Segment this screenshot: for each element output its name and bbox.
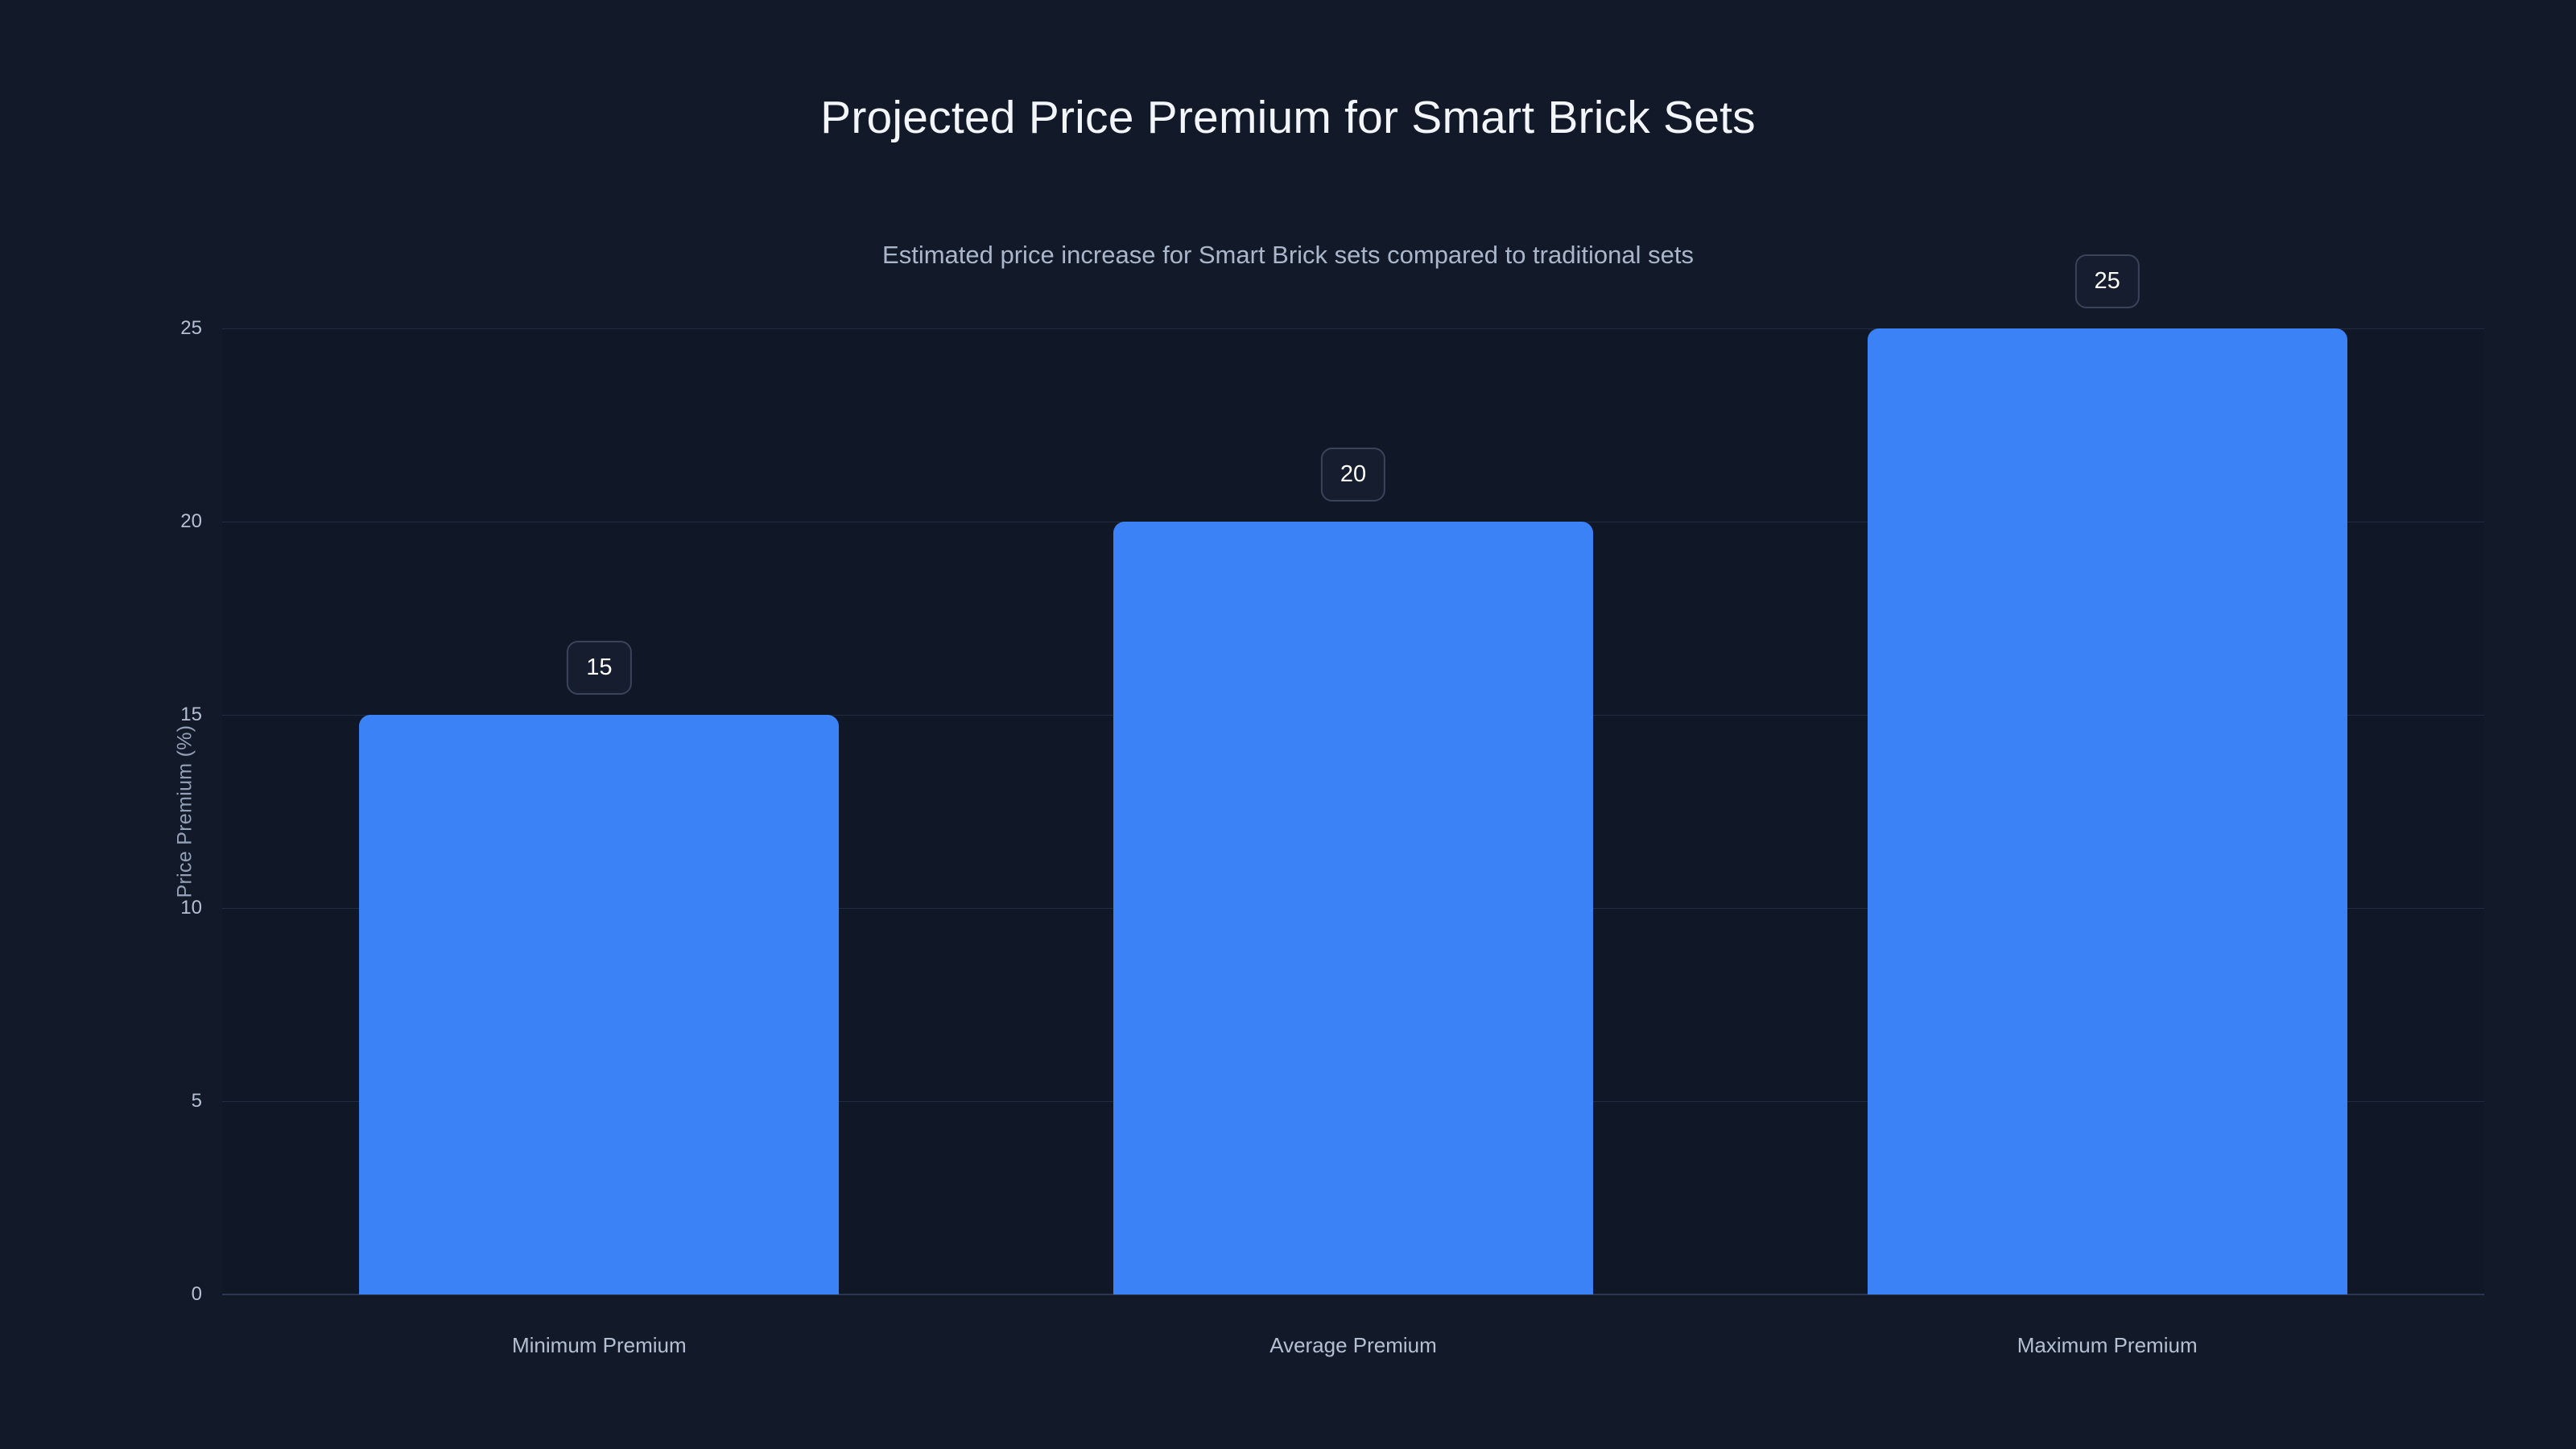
y-axis-tick-label: 25	[17, 319, 202, 338]
bar-value-badge: 20	[1321, 448, 1385, 502]
y-axis-tick-label: 20	[17, 512, 202, 531]
x-axis-category-label: Maximum Premium	[2017, 1335, 2198, 1356]
bar[interactable]	[359, 715, 839, 1294]
y-axis-tick-label: 10	[17, 898, 202, 918]
bar[interactable]	[1113, 522, 1593, 1294]
y-axis-tick-label: 15	[17, 705, 202, 724]
bar-value-badge: 15	[567, 641, 631, 695]
x-axis-category-label: Average Premium	[1269, 1335, 1437, 1356]
bar-value-badge: 25	[2075, 254, 2140, 308]
y-axis-tick-label: 0	[17, 1285, 202, 1304]
y-axis-tick-label: 5	[17, 1092, 202, 1111]
y-axis-title: Price Premium (%)	[174, 725, 197, 898]
bar-chart: Projected Price Premium for Smart Brick …	[0, 0, 2576, 1449]
chart-title: Projected Price Premium for Smart Brick …	[0, 93, 2576, 143]
chart-subtitle: Estimated price increase for Smart Brick…	[0, 242, 2576, 269]
x-axis-category-label: Minimum Premium	[512, 1335, 687, 1356]
bar[interactable]	[1868, 328, 2347, 1294]
